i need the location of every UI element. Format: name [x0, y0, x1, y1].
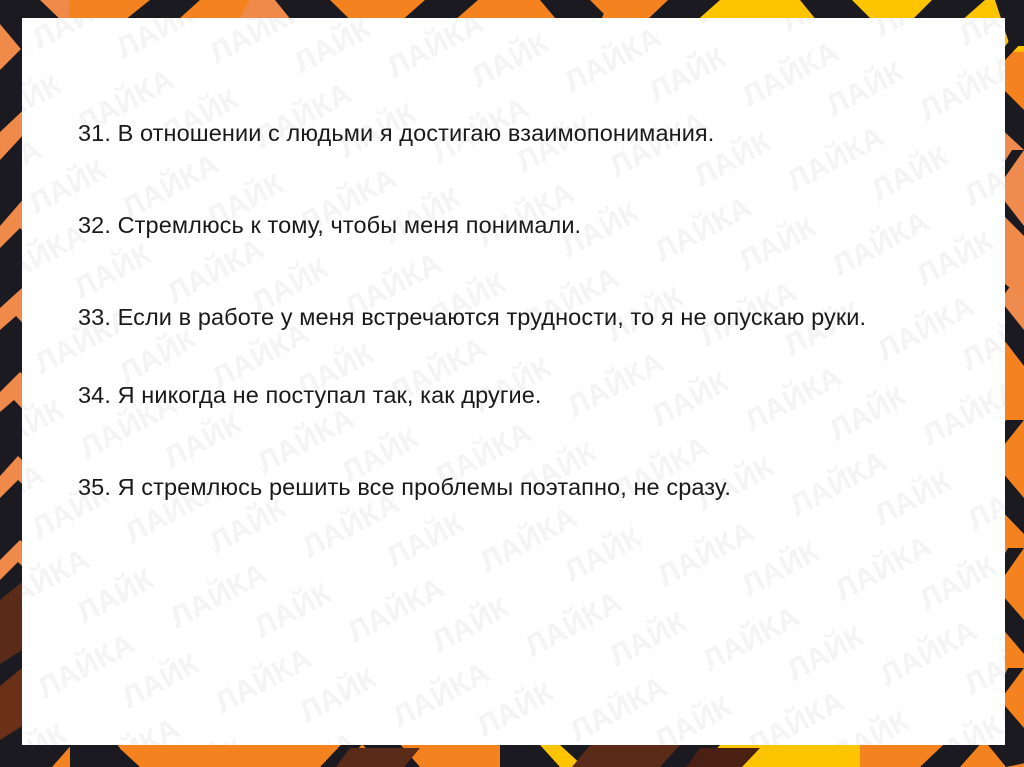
slide-card: ЛАЙКА ЛАЙКА 31. В отношении с людьми я д…	[22, 18, 1005, 745]
statement-32: 32. Стремлюсь к тому, чтобы меня понимал…	[78, 210, 938, 240]
statement-list: 31. В отношении с людьми я достигаю взаи…	[78, 118, 965, 502]
statement-34: 34. Я никогда не поступал так, как други…	[78, 380, 938, 410]
statement-31: 31. В отношении с людьми я достигаю взаи…	[78, 118, 938, 148]
statement-35: 35. Я стремлюсь решить все проблемы поэт…	[78, 472, 938, 502]
slide: ЛАЙКА ЛАЙКА 31. В отношении с людьми я д…	[0, 0, 1024, 767]
statement-33: 33. Если в работе у меня встречаются тру…	[78, 302, 938, 332]
